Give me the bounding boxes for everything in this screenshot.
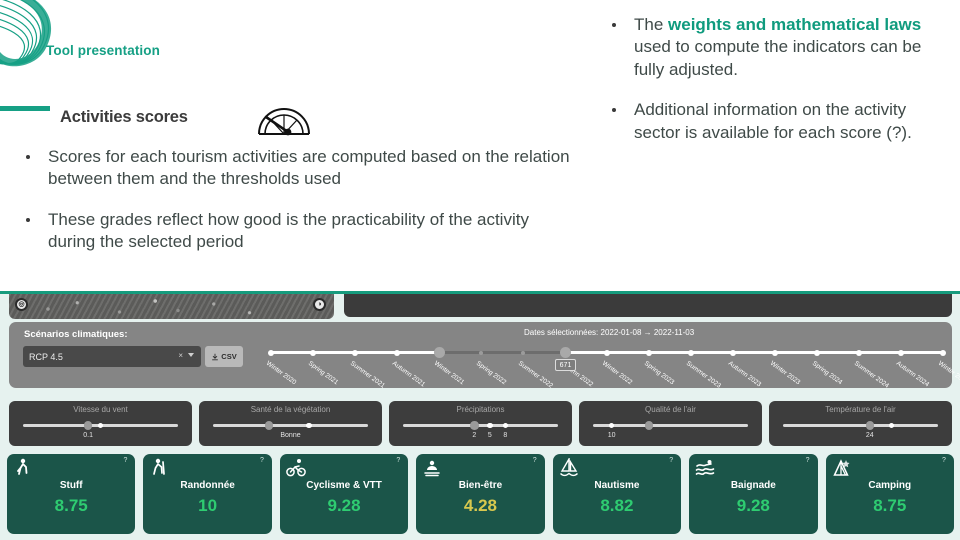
slider-tick-label: Spring 2023 xyxy=(643,360,684,393)
sailing-icon xyxy=(559,458,579,478)
indicator-track[interactable] xyxy=(783,424,938,427)
selected-dates-label: Dates sélectionnées: 2022-01-08 → 2022-1… xyxy=(524,328,694,337)
indicator-value: 24 xyxy=(866,432,874,439)
activity-score: 8.82 xyxy=(553,496,681,516)
list-item: Scores for each tourism activities are c… xyxy=(14,146,574,191)
help-icon[interactable]: ? xyxy=(396,457,400,464)
activity-score-card[interactable]: ?Nautisme8.82 xyxy=(553,454,681,534)
activity-name: Baignade xyxy=(689,480,817,491)
indicator-values: Bonne xyxy=(199,432,382,442)
activity-score: 9.28 xyxy=(280,496,408,516)
slider-handle-badge: 671 xyxy=(555,359,576,371)
indicator-value: 2 xyxy=(472,432,476,439)
map-view[interactable]: ◎ ◑ xyxy=(9,294,334,319)
scenario-select-value: RCP 4.5 xyxy=(29,352,63,362)
activity-score: 4.28 xyxy=(416,496,544,516)
indicator-card[interactable]: Santé de la végétationBonne xyxy=(199,401,382,446)
indicator-value: 0.1 xyxy=(83,432,93,439)
help-icon[interactable]: ? xyxy=(124,457,128,464)
indicator-knob[interactable] xyxy=(866,421,875,430)
activity-name: Randonnée xyxy=(143,480,271,491)
indicator-knob[interactable] xyxy=(265,421,274,430)
slider-tick[interactable] xyxy=(814,350,820,356)
indicator-values: 24 xyxy=(769,432,952,442)
indicator-threshold-dot[interactable] xyxy=(609,423,615,429)
bullet-highlight: weights and mathematical laws xyxy=(668,15,921,34)
list-item: The weights and mathematical laws used t… xyxy=(600,14,950,81)
swimming-icon xyxy=(695,458,715,478)
help-icon[interactable]: ? xyxy=(942,457,946,464)
indicator-values: 0.1 xyxy=(9,432,192,442)
indicator-value: 8 xyxy=(503,432,507,439)
activity-score: 9.28 xyxy=(689,496,817,516)
right-bullet-list: The weights and mathematical laws used t… xyxy=(600,14,950,162)
indicator-track[interactable] xyxy=(593,424,748,427)
activity-score-card[interactable]: ?Cyclisme & VTT9.28 xyxy=(280,454,408,534)
indicator-track[interactable] xyxy=(403,424,558,427)
slider-tick-label: Summer 2023 xyxy=(685,360,726,393)
bullet-tail: used to compute the indicators can be fu… xyxy=(634,37,921,78)
activity-score-card[interactable]: ?Stuff8.75 xyxy=(7,454,135,534)
slider-tick[interactable] xyxy=(646,350,652,356)
slider-tick-label: Winter 2022 xyxy=(601,360,642,393)
slider-tick-label: Spring 2024 xyxy=(811,360,852,393)
hiking-icon xyxy=(149,458,169,478)
indicator-card[interactable]: Qualité de l'air10 xyxy=(579,401,762,446)
walking-icon xyxy=(13,458,33,478)
activity-name: Nautisme xyxy=(553,480,681,491)
slider-tick-label: Autumn 2024 xyxy=(895,360,936,393)
activity-name: Bien-être xyxy=(416,480,544,491)
activity-score-card[interactable]: ?Randonnée10 xyxy=(143,454,271,534)
activity-score-card[interactable]: ?Baignade9.28 xyxy=(689,454,817,534)
slider-handle-end[interactable] xyxy=(560,347,571,358)
wellness-icon xyxy=(422,458,442,478)
activity-score: 8.75 xyxy=(826,496,954,516)
indicator-title: Température de l'air xyxy=(769,405,952,414)
bullet-text: Scores for each tourism activities are c… xyxy=(48,146,574,191)
slider-tick-label: Autumn 2023 xyxy=(727,360,768,393)
slider-tick-label: Summer 2021 xyxy=(349,360,390,393)
download-csv-button[interactable]: CSV xyxy=(205,346,243,367)
indicator-title: Précipitations xyxy=(389,405,572,414)
indicator-track[interactable] xyxy=(213,424,368,427)
indicator-knob[interactable] xyxy=(470,421,479,430)
slider-tick[interactable] xyxy=(604,350,610,356)
activity-score: 10 xyxy=(143,496,271,516)
activity-score-card[interactable]: ?Bien-être4.28 xyxy=(416,454,544,534)
slider-tick-label: Autumn 2021 xyxy=(391,360,432,393)
slider-handle-start[interactable] xyxy=(434,347,445,358)
clear-icon[interactable]: × xyxy=(178,351,183,360)
indicator-value: 5 xyxy=(488,432,492,439)
slider-tick-label: Winter 2021 xyxy=(433,360,474,393)
indicator-sliders-row: Vitesse du vent0.1Santé de la végétation… xyxy=(9,401,952,446)
map-layers-icon[interactable]: ◑ xyxy=(313,298,326,311)
slider-tick-label: Spring 2022 xyxy=(475,360,516,393)
help-icon[interactable]: ? xyxy=(806,457,810,464)
indicator-title: Santé de la végétation xyxy=(199,405,382,414)
slide-root: Tool presentation Activities scores Scor… xyxy=(0,0,960,540)
indicator-title: Qualité de l'air xyxy=(579,405,762,414)
slider-tick[interactable] xyxy=(268,350,274,356)
activity-score-card[interactable]: ?Camping8.75 xyxy=(826,454,954,534)
cycling-icon xyxy=(286,458,306,478)
slider-tick-label: Winter 2023 xyxy=(769,360,810,393)
slider-tick-label: Summer 2022 xyxy=(517,360,558,393)
scenarios-panel: Scénarios climatiques: RCP 4.5 × CSV Dat… xyxy=(9,322,952,388)
slider-tick[interactable] xyxy=(352,350,358,356)
list-item: These grades reflect how good is the pra… xyxy=(14,209,574,254)
app-screenshot: ◎ ◑ Scénarios climatiques: RCP 4.5 × CSV… xyxy=(0,291,960,540)
slider-tick[interactable] xyxy=(479,351,483,355)
slider-tick[interactable] xyxy=(310,350,316,356)
deck-title: Tool presentation xyxy=(46,43,160,58)
camping-icon xyxy=(832,458,852,478)
activity-name: Stuff xyxy=(7,480,135,491)
indicator-card[interactable]: Vitesse du vent0.1 xyxy=(9,401,192,446)
slider-tick[interactable] xyxy=(856,350,862,356)
indicator-knob[interactable] xyxy=(84,421,93,430)
scenarios-label: Scénarios climatiques: xyxy=(24,329,127,340)
slider-tick[interactable] xyxy=(521,351,525,355)
activity-name: Camping xyxy=(826,480,954,491)
left-bullet-list: Scores for each tourism activities are c… xyxy=(14,146,574,272)
help-icon[interactable]: ? xyxy=(260,457,264,464)
indicator-knob[interactable] xyxy=(645,421,654,430)
activity-scores-row: ?Stuff8.75?Randonnée10?Cyclisme & VTT9.2… xyxy=(7,454,954,534)
indicator-values: 258 xyxy=(389,432,572,442)
section-accent-rule xyxy=(0,106,50,111)
presentation-slide: Tool presentation Activities scores Scor… xyxy=(0,0,960,300)
indicator-threshold-dot[interactable] xyxy=(487,423,493,429)
help-icon[interactable]: ? xyxy=(533,457,537,464)
indicator-value: Bonne xyxy=(280,432,300,439)
indicator-threshold-dot[interactable] xyxy=(98,423,104,429)
slider-tick-label: Summer 2024 xyxy=(853,360,894,393)
indicator-title: Vitesse du vent xyxy=(9,405,192,414)
slider-tick[interactable] xyxy=(772,350,778,356)
scenario-select[interactable]: RCP 4.5 × xyxy=(23,346,201,367)
indicator-value: 10 xyxy=(608,432,616,439)
indicator-threshold-dot[interactable] xyxy=(889,423,895,429)
chevron-down-icon[interactable] xyxy=(188,353,194,357)
list-item: Additional information on the activity s… xyxy=(600,99,950,144)
indicator-card[interactable]: Précipitations258 xyxy=(389,401,572,446)
indicator-threshold-dot[interactable] xyxy=(306,423,312,429)
slider-tick-label: Winter 2020 xyxy=(265,360,306,393)
slider-tick[interactable] xyxy=(898,350,904,356)
gauge-icon xyxy=(255,98,313,140)
activity-name: Cyclisme & VTT xyxy=(280,480,408,491)
slider-tick[interactable] xyxy=(394,350,400,356)
indicator-values: 10 xyxy=(579,432,762,442)
map-locate-icon[interactable]: ◎ xyxy=(15,298,28,311)
period-range-slider[interactable]: Winter 2020Spring 2021Summer 2021Autumn … xyxy=(271,348,943,356)
bullet-text: The weights and mathematical laws used t… xyxy=(634,14,950,81)
page-title: Activities scores xyxy=(60,108,188,127)
slider-selected-range xyxy=(439,351,565,354)
map-strip: ◎ ◑ xyxy=(0,294,960,319)
slider-tick[interactable] xyxy=(940,350,946,356)
indicator-track[interactable] xyxy=(23,424,178,427)
bullet-text: Additional information on the activity s… xyxy=(634,99,950,144)
slider-tick[interactable] xyxy=(688,350,694,356)
indicator-card[interactable]: Température de l'air24 xyxy=(769,401,952,446)
indicator-threshold-dot[interactable] xyxy=(503,423,509,429)
activity-score: 8.75 xyxy=(7,496,135,516)
slider-tick-label: Spring 2021 xyxy=(307,360,348,393)
bullet-text: These grades reflect how good is the pra… xyxy=(48,209,574,254)
help-icon[interactable]: ? xyxy=(669,457,673,464)
side-panel-crop xyxy=(344,294,952,317)
bullet-lead: The xyxy=(634,15,668,34)
brand-logo xyxy=(0,0,94,74)
csv-label: CSV xyxy=(221,352,236,361)
slider-tick-label: Winter 2024 xyxy=(937,360,960,393)
download-icon xyxy=(211,353,219,361)
slider-tick[interactable] xyxy=(730,350,736,356)
